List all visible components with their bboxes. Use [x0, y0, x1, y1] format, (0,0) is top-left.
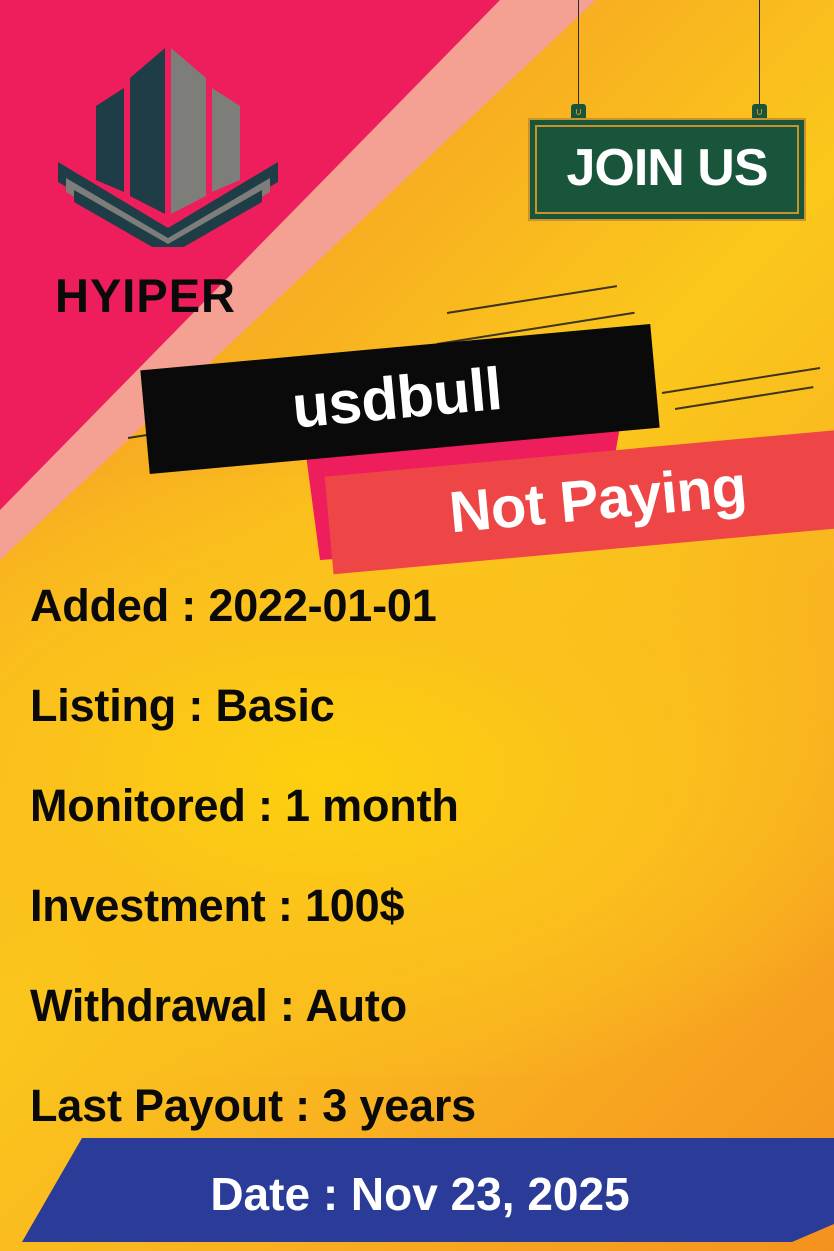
sign-board[interactable]: JOIN US — [528, 118, 806, 221]
detail-row-added: Added : 2022-01-01 — [30, 556, 820, 656]
join-us-sign[interactable]: JOIN US — [528, 0, 812, 225]
building-chevron-logo-icon — [52, 32, 282, 247]
detail-row-monitored: Monitored : 1 month — [30, 756, 820, 856]
detail-row-withdrawal: Withdrawal : Auto — [30, 956, 820, 1056]
footer-date-banner: Date : Nov 23, 2025 — [0, 1120, 834, 1251]
sign-string-right — [759, 0, 760, 104]
sign-string-left — [578, 0, 579, 104]
program-details-list: Added : 2022-01-01 Listing : Basic Monit… — [30, 556, 820, 1156]
footer-date-text: Date : Nov 23, 2025 — [0, 1142, 834, 1246]
brand-name: HYIPER — [55, 272, 236, 319]
status-text: Not Paying — [446, 452, 749, 550]
detail-row-investment: Investment : 100$ — [30, 856, 820, 956]
program-name-text: usdbull — [289, 353, 511, 445]
detail-row-listing: Listing : Basic — [30, 656, 820, 756]
brand-logo — [52, 32, 282, 247]
hyip-listing-banner: HYIPER JOIN US usdbull Not Paying Added … — [0, 0, 834, 1251]
join-us-label: JOIN US — [530, 120, 804, 219]
